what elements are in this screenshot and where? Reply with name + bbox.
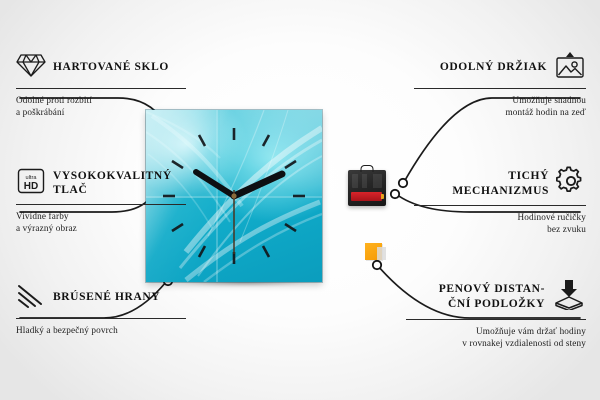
feature-subtitle-line1: Umožňuje vám držať hodiny [406, 325, 586, 337]
divider [16, 204, 186, 205]
ultra-hd-badge-icon: ultra HD [16, 167, 46, 200]
leader-dot-holder [399, 179, 407, 187]
feature-ground-edges: BRÚSENÉ HRANY Hladký a bezpečný povrch [16, 280, 186, 336]
feature-durable-holder: ODOLNÝ DRŽIAK Umožňuje snadnou montáž ho… [414, 50, 586, 119]
feature-title: PENOVÝ DISTAN- ČNÍ PODLOŽKY [439, 282, 545, 310]
feature-subtitle-line1: Vivídne farby [16, 210, 186, 222]
feature-subtitle-line2: v rovnakej vzdialenosti od steny [406, 337, 586, 349]
divider [16, 318, 186, 319]
feature-title-line2: ČNÍ PODLOŽKY [439, 297, 545, 311]
feature-title-line1: PENOVÝ DISTAN- [439, 282, 545, 296]
feature-tempered-glass: HARTOVANÉ SKLO Odolné proti rozbití a po… [16, 50, 186, 119]
feature-subtitle-line2: a poškrábání [16, 106, 186, 118]
feature-high-quality-print: ultra HD VYSOKOKVALITNÝ TLAČ Vivídne far… [16, 166, 186, 235]
feature-subtitle-line2: bez zvuku [414, 223, 586, 235]
leader-dot-mechanism [391, 190, 399, 198]
divider [406, 319, 586, 320]
gear-icon [556, 166, 586, 201]
clock-hand-hour [234, 174, 282, 196]
foam-spacer-pad [365, 243, 382, 260]
feature-subtitle-line1: Umožňuje snadnou [414, 94, 586, 106]
clock-hand-minute [196, 172, 234, 196]
feature-silent-mechanism: TICHÝ MECHANIZMUS Hodinové ručičky bez z… [414, 166, 586, 236]
diamond-icon [16, 52, 46, 83]
feature-title: VYSOKOKVALITNÝ TLAČ [53, 169, 186, 197]
picture-frame-hanger-icon [554, 51, 586, 84]
clock-mechanism-box [348, 170, 386, 206]
clock-center-cap [231, 193, 236, 198]
feature-foam-spacers: PENOVÝ DISTAN- ČNÍ PODLOŽKY Umožňuje vám… [406, 278, 586, 350]
divider [414, 205, 586, 206]
feature-subtitle-line2: a výrazný obraz [16, 222, 186, 234]
feature-title: TICHÝ MECHANIZMUS [414, 169, 549, 197]
divider [414, 88, 586, 89]
infographic-canvas: HARTOVANÉ SKLO Odolné proti rozbití a po… [0, 0, 600, 400]
feature-subtitle-line1: Odolné proti rozbití [16, 94, 186, 106]
feature-title: ODOLNÝ DRŽIAK [440, 60, 547, 74]
divider [16, 88, 186, 89]
feature-title: BRÚSENÉ HRANY [53, 290, 160, 304]
feature-subtitle-line1: Hodinové ručičky [414, 211, 586, 223]
leader-dot-foam [373, 261, 381, 269]
mechanism-battery [351, 192, 382, 201]
feature-subtitle-line2: montáž hodin na zeď [414, 106, 586, 118]
press-down-stack-icon [552, 278, 586, 315]
mechanism-embossing [352, 174, 382, 188]
feature-subtitle-line1: Hladký a bezpečný povrch [16, 324, 186, 336]
mechanism-hanger [361, 165, 374, 172]
feature-title: HARTOVANÉ SKLO [53, 60, 169, 74]
ground-edges-icon [16, 282, 46, 313]
svg-text:HD: HD [24, 181, 38, 192]
